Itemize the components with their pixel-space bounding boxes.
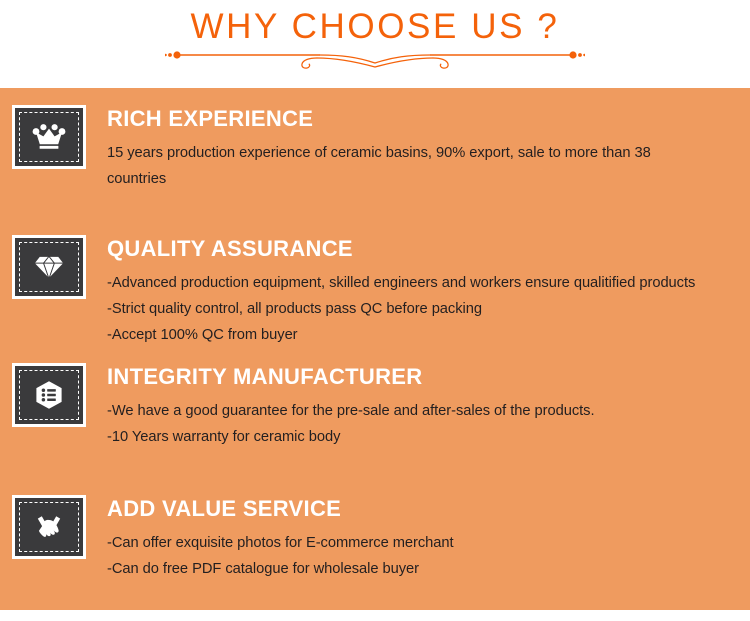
feature-title: INTEGRITY MANUFACTURER [107,363,750,391]
feature-line: -Accept 100% QC from buyer [107,322,750,348]
feature-icon-cell [0,495,86,559]
diamond-icon [30,248,68,286]
feature-line: -Advanced production equipment, skilled … [107,270,750,296]
icon-tile [12,235,86,299]
feature-title: RICH EXPERIENCE [107,105,750,133]
feature-line: -Can offer exquisite photos for E-commer… [107,530,750,556]
feature-body: 15 years production experience of cerami… [107,140,750,192]
feature-text-cell: QUALITY ASSURANCE -Advanced production e… [86,235,750,348]
feature-icon-cell [0,235,86,299]
icon-tile [12,105,86,169]
feature-row: QUALITY ASSURANCE -Advanced production e… [0,235,750,348]
feature-icon-cell [0,105,86,169]
hexagon-list-icon [30,376,68,414]
feature-row: ADD VALUE SERVICE -Can offer exquisite p… [0,495,750,582]
feature-line: -We have a good guarantee for the pre-sa… [107,398,750,424]
feature-body: -Advanced production equipment, skilled … [107,270,750,348]
icon-tile [12,363,86,427]
crown-icon [30,118,68,156]
feature-body: -We have a good guarantee for the pre-sa… [107,398,750,450]
feature-title: QUALITY ASSURANCE [107,235,750,263]
features-panel: RICH EXPERIENCE 15 years production expe… [0,88,750,610]
icon-tile [12,495,86,559]
feature-body: -Can offer exquisite photos for E-commer… [107,530,750,582]
feature-line: countries [107,166,750,192]
feature-line: -10 Years warranty for ceramic body [107,424,750,450]
feature-title: ADD VALUE SERVICE [107,495,750,523]
footer-band [0,610,750,621]
feature-row: RICH EXPERIENCE 15 years production expe… [0,105,750,192]
header-band: WHY CHOOSE US ? [0,0,750,88]
feature-icon-cell [0,363,86,427]
feature-line: 15 years production experience of cerami… [107,140,750,166]
ornament-divider-flourish-icon [165,47,585,73]
feature-text-cell: INTEGRITY MANUFACTURER -We have a good g… [86,363,750,450]
feature-text-cell: RICH EXPERIENCE 15 years production expe… [86,105,750,192]
feature-text-cell: ADD VALUE SERVICE -Can offer exquisite p… [86,495,750,582]
page-title: WHY CHOOSE US ? [0,6,750,48]
feature-line: -Can do free PDF catalogue for wholesale… [107,556,750,582]
feature-row: INTEGRITY MANUFACTURER -We have a good g… [0,363,750,450]
infographic-page: WHY CHOOSE US ? [0,0,750,621]
handshake-icon [30,508,68,546]
feature-line: -Strict quality control, all products pa… [107,296,750,322]
